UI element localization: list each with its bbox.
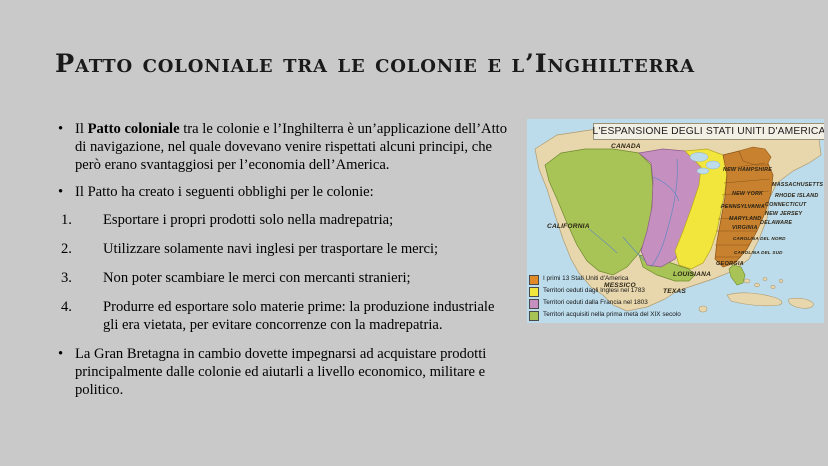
numbered-list-item-2: 2. Utilizzare solamente navi inglesi per… [58,240,510,258]
map-banner-title: L'ESPANSIONE DEGLI STATI UNITI D'AMERICA [592,126,824,137]
legend-row-british-1783: Territori ceduti dagli Inglesi nel 1783 [529,286,711,297]
legend-row-original-13: I primi 13 Stati Uniti d'America [529,274,711,285]
presentation-slide: Patto coloniale tra le colonie e l’Inghi… [0,0,828,466]
map-label-virginia: VIRGINIA [732,225,758,231]
legend-swatch-british-1783 [529,287,539,297]
bullet-paragraph-1-text: Il Patto coloniale tra le colonie e l’In… [75,120,510,174]
map-label-carolina-del-nord: CAROLINA DEL NORD [733,236,786,241]
map-label-maryland: MARYLAND [729,216,761,222]
map-label-massachusetts: MASSACHUSETTS [772,182,823,188]
text-run-plain-before: Il [75,121,88,137]
legend-label-acquired-19c: Territori acquisiti nella prima metà del… [543,312,681,318]
map-label-california: CALIFORNIA [547,223,590,230]
list-number-1: 1. [61,211,83,229]
map-legend: I primi 13 Stati Uniti d'America Territo… [529,274,711,322]
bullet-paragraph-1: • Il Patto coloniale tra le colonie e l’… [58,120,510,174]
list-number-4: 4. [61,298,83,316]
bullet-marker: • [58,120,73,138]
map-label-pennsylvania: PENNSYLVANIA [721,204,765,210]
bullet-paragraph-3-text: La Gran Bretagna in cambio dovette impeg… [75,345,510,399]
bullet-marker: • [58,345,73,363]
numbered-list-item-3-text: Non poter scambiare le merci con mercant… [103,269,510,287]
slide-body-text: • Il Patto coloniale tra le colonie e l’… [58,120,510,408]
numbered-list-item-1-text: Esportare i propri prodotti solo nella m… [103,211,510,229]
map-banner: L'ESPANSIONE DEGLI STATI UNITI D'AMERICA [593,123,824,140]
legend-label-original-13: I primi 13 Stati Uniti d'America [543,276,628,282]
numbered-list-item-2-text: Utilizzare solamente navi inglesi per tr… [103,240,510,258]
map-label-new-hampshire: NEW HAMPSHIRE [723,167,772,173]
map-label-canada: CANADA [611,143,641,150]
page-title: Patto coloniale tra le colonie e l’Inghi… [55,50,775,79]
legend-row-acquired-19c: Territori acquisiti nella prima metà del… [529,310,711,321]
text-run-bold: Patto coloniale [88,121,180,137]
map-label-rhode-island: RHODE ISLAND [775,193,818,199]
bullet-paragraph-2-text: Il Patto ha creato i seguenti obblighi p… [75,183,510,201]
legend-swatch-acquired-19c [529,311,539,321]
map-label-connecticut: CONNECTICUT [765,202,806,208]
numbered-list-item-3: 3. Non poter scambiare le merci con merc… [58,269,510,287]
bullet-marker: • [58,183,73,201]
map-label-new-york: NEW YORK [732,191,763,197]
legend-label-british-1783: Territori ceduti dagli Inglesi nel 1783 [543,288,645,294]
numbered-list-item-4: 4. Produrre ed esportare solo materie pr… [58,298,510,334]
legend-label-french-1803: Territori ceduti dalla Francia nel 1803 [543,300,648,306]
map-image-usa-expansion: L'ESPANSIONE DEGLI STATI UNITI D'AMERICA… [527,119,824,323]
list-number-2: 2. [61,240,83,258]
legend-swatch-original-13 [529,275,539,285]
map-label-new-jersey: NEW JERSEY [765,211,802,217]
map-label-delaware: DELAWARE [760,220,792,226]
numbered-list-item-1: 1. Esportare i propri prodotti solo nell… [58,211,510,229]
bullet-paragraph-2: • Il Patto ha creato i seguenti obblighi… [58,183,510,201]
bullet-paragraph-3: • La Gran Bretagna in cambio dovette imp… [58,345,510,399]
numbered-list-item-4-text: Produrre ed esportare solo materie prime… [103,298,510,334]
map-label-carolina-del-sud: CAROLINA DEL SUD [734,250,783,255]
legend-swatch-french-1803 [529,299,539,309]
list-number-3: 3. [61,269,83,287]
map-label-georgia: GEORGIA [716,261,744,267]
legend-row-french-1803: Territori ceduti dalla Francia nel 1803 [529,298,711,309]
